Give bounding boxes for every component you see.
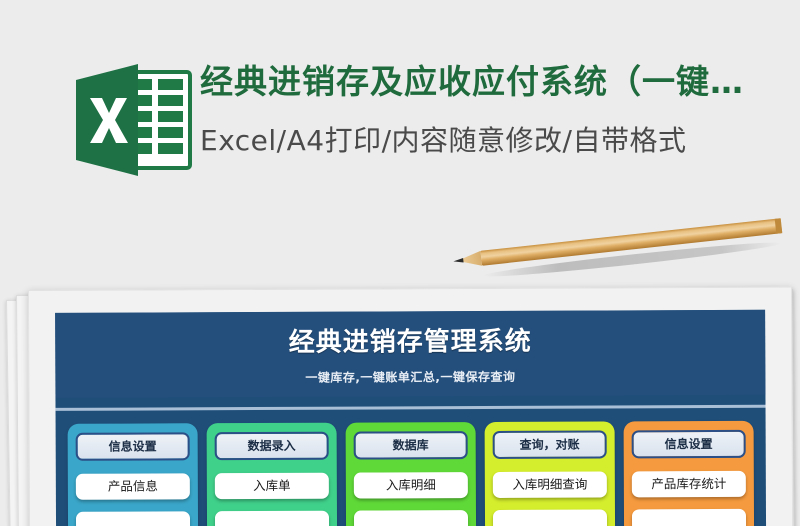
module-card-header: 查询，对账 [493,430,607,458]
module-button[interactable]: 入库单 [215,473,329,499]
system-title: 经典进销存管理系统 [55,324,765,361]
module-button[interactable] [493,509,607,526]
module-button[interactable]: 产品库存统计 [632,471,746,497]
module-button[interactable] [215,511,329,526]
module-card-row: 信息设置 产品信息 数据录入 入库单 数据库 入库明细 [56,408,767,526]
module-card-database[interactable]: 数据库 入库明细 [346,422,477,526]
sheet-inner: 经典进销存管理系统 一键库存,一键账单汇总,一键保存查询 信息设置 产品信息 数… [29,288,792,526]
system-panel: 经典进销存管理系统 一键库存,一键账单汇总,一键保存查询 信息设置 产品信息 数… [55,310,766,526]
module-button[interactable] [354,510,468,526]
module-card-header: 信息设置 [632,430,746,458]
page-title: 经典进销存及应收应付系统（一键… [200,60,800,104]
module-button[interactable]: 产品信息 [76,473,190,499]
document-preview-sheet[interactable]: 经典进销存管理系统 一键库存,一键账单汇总,一键保存查询 信息设置 产品信息 数… [28,287,793,526]
module-button[interactable] [632,509,746,526]
module-card-header: 数据库 [354,431,468,459]
module-card-info-settings[interactable]: 信息设置 产品信息 [68,423,199,526]
module-button[interactable] [76,511,190,526]
system-subtitle: 一键库存,一键账单汇总,一键保存查询 [55,367,765,388]
module-button[interactable]: 入库明细 [354,472,468,498]
module-card-query-reconcile[interactable]: 查询，对账 入库明细查询 [485,421,616,526]
module-button[interactable]: 入库明细查询 [493,471,607,497]
title-block: 经典进销存及应收应付系统（一键… Excel/A4打印/内容随意修改/自带格式 [200,60,800,159]
module-card-data-entry[interactable]: 数据录入 入库单 [207,423,338,526]
module-card-header: 信息设置 [76,432,190,460]
excel-x-logo-icon [64,52,200,188]
module-card-header: 数据录入 [215,432,329,460]
preview-page: 经典进销存及应收应付系统（一键… Excel/A4打印/内容随意修改/自带格式 [0,0,800,526]
banner: 经典进销存及应收应付系统（一键… Excel/A4打印/内容随意修改/自带格式 [0,0,800,230]
page-subtitle: Excel/A4打印/内容随意修改/自带格式 [200,123,800,159]
system-header: 经典进销存管理系统 一键库存,一键账单汇总,一键保存查询 [55,310,765,398]
module-card-info-settings-2[interactable]: 信息设置 产品库存统计 [624,421,755,526]
